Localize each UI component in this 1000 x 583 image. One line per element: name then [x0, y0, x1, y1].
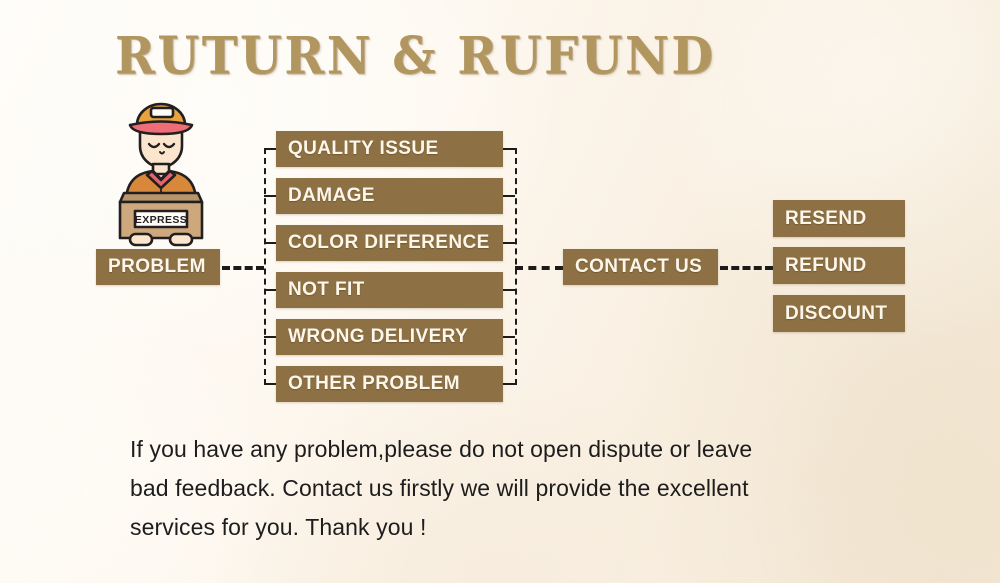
stub-right-2: [503, 195, 515, 197]
stub-left-1: [264, 148, 276, 150]
flow-node-resend-label: RESEND: [785, 208, 867, 230]
background-sheen-top-right: [700, 0, 1000, 340]
bracket-problems-left: [264, 148, 266, 385]
flow-node-quality-issue[interactable]: QUALITY ISSUE: [276, 131, 503, 167]
flow-node-quality-issue-label: QUALITY ISSUE: [288, 138, 439, 160]
flow-node-color-difference-label: COLOR DIFFERENCE: [288, 232, 490, 254]
page-title: RUTURN & RUFUND: [115, 26, 716, 86]
stub-left-6: [264, 383, 276, 385]
flow-node-refund-label: REFUND: [785, 255, 867, 277]
flow-node-other-problem-label: OTHER PROBLEM: [288, 373, 460, 395]
flow-node-damage[interactable]: DAMAGE: [276, 178, 503, 214]
stub-left-4: [264, 289, 276, 291]
flow-node-refund[interactable]: REFUND: [773, 247, 905, 284]
flow-node-problem[interactable]: PROBLEM: [96, 249, 220, 285]
stub-right-1: [503, 148, 515, 150]
flow-node-other-problem[interactable]: OTHER PROBLEM: [276, 366, 503, 402]
flow-node-wrong-delivery-label: WRONG DELIVERY: [288, 326, 468, 348]
flow-node-resend[interactable]: RESEND: [773, 200, 905, 237]
flow-node-discount[interactable]: DISCOUNT: [773, 295, 905, 332]
connector-problem-to-problems: [222, 266, 264, 270]
stub-left-2: [264, 195, 276, 197]
connector-problems-to-contact: [515, 266, 563, 270]
flow-node-contact-us[interactable]: CONTACT US: [563, 249, 718, 285]
stub-right-6: [503, 383, 515, 385]
stub-left-3: [264, 242, 276, 244]
flow-node-contact-us-label: CONTACT US: [575, 256, 702, 278]
footer-note-line-1: If you have any problem,please do not op…: [130, 430, 830, 469]
footer-note-line-3: services for you. Thank you !: [130, 508, 830, 547]
flow-node-damage-label: DAMAGE: [288, 185, 375, 207]
flow-node-not-fit-label: NOT FIT: [288, 279, 365, 301]
footer-note: If you have any problem,please do not op…: [130, 430, 830, 547]
stub-left-5: [264, 336, 276, 338]
flow-node-wrong-delivery[interactable]: WRONG DELIVERY: [276, 319, 503, 355]
stub-right-3: [503, 242, 515, 244]
flow-node-color-difference[interactable]: COLOR DIFFERENCE: [276, 225, 503, 261]
stub-right-5: [503, 336, 515, 338]
parcel-label: EXPRESS: [135, 214, 187, 226]
flow-node-discount-label: DISCOUNT: [785, 303, 887, 325]
infographic-canvas: RUTURN & RUFUND: [0, 0, 1000, 583]
connector-contact-to-outcomes: [720, 266, 773, 270]
stub-right-4: [503, 289, 515, 291]
flow-node-not-fit[interactable]: NOT FIT: [276, 272, 503, 308]
flow-node-problem-label: PROBLEM: [108, 256, 206, 278]
footer-note-line-2: bad feedback. Contact us firstly we will…: [130, 469, 830, 508]
delivery-courier-icon: EXPRESS: [96, 92, 226, 252]
